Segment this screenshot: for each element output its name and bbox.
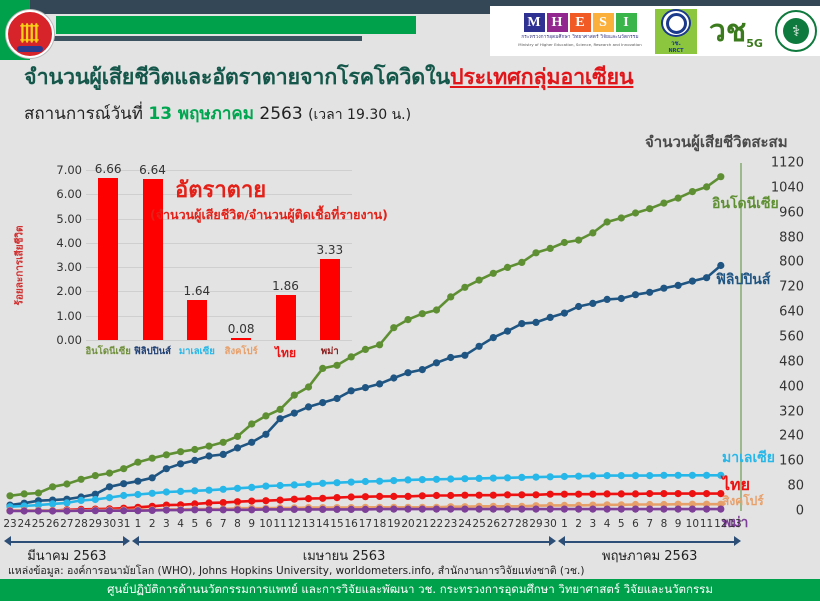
series-point xyxy=(476,506,483,513)
series-point xyxy=(447,503,454,510)
series-point xyxy=(134,506,141,513)
series-point xyxy=(49,483,56,490)
series-point xyxy=(376,380,383,387)
series-point xyxy=(689,188,696,195)
series-point xyxy=(404,369,411,376)
month-arrow-line xyxy=(562,541,737,543)
series-point xyxy=(589,491,596,498)
inset-bar-value: 1.86 xyxy=(272,279,299,293)
series-point xyxy=(461,475,468,482)
x-axis-tick: 13 xyxy=(302,518,315,530)
series-point xyxy=(575,237,582,244)
series-point xyxy=(461,284,468,291)
x-axis-tick: 11 xyxy=(273,518,286,530)
subtitle-date: 13 พฤษภาคม xyxy=(148,104,254,124)
series-point xyxy=(419,366,426,373)
x-axis-tick: 11 xyxy=(700,518,713,530)
series-point xyxy=(604,218,611,225)
inset-bar-value: 6.66 xyxy=(95,162,122,176)
series-point xyxy=(134,507,141,514)
right-axis-tick: 1120 xyxy=(771,156,804,171)
series-point xyxy=(63,507,70,514)
series-point xyxy=(561,502,568,509)
series-point xyxy=(177,506,184,513)
mhesi-thai-name: กระทรวงการอุดมศึกษา วิทยาศาสตร์ วิจัยและ… xyxy=(521,34,638,41)
series-point xyxy=(419,504,426,511)
series-point xyxy=(632,209,639,216)
x-axis-tick: 10 xyxy=(686,518,699,530)
series-point xyxy=(319,504,326,511)
inset-subtitle: (จำนวนผู้เสียชีวิต/จำนวนผู้ติดเชื้อที่รา… xyxy=(150,205,388,225)
series-point xyxy=(675,506,682,513)
series-point xyxy=(433,306,440,313)
series-point xyxy=(248,505,255,512)
x-axis-tick: 4 xyxy=(604,518,611,530)
series-point xyxy=(376,341,383,348)
series-point xyxy=(433,506,440,513)
month-band: เมษายน 2563 xyxy=(132,533,556,563)
series-point xyxy=(575,303,582,310)
series-point xyxy=(191,500,198,507)
series-point xyxy=(120,507,127,514)
x-axis-tick: 21 xyxy=(416,518,429,530)
series-point xyxy=(35,507,42,514)
series-point xyxy=(632,472,639,479)
series-point xyxy=(632,506,639,513)
series-point xyxy=(262,497,269,504)
x-axis-tick: 24 xyxy=(18,518,31,530)
series-point xyxy=(35,502,42,509)
inset-category-label: ฟิลิปปินส์ xyxy=(134,344,171,359)
series-point xyxy=(63,480,70,487)
series-point xyxy=(618,490,625,497)
series-point xyxy=(518,506,525,513)
inset-bar-value: 3.33 xyxy=(316,243,343,257)
x-axis-tick: 7 xyxy=(220,518,227,530)
series-point xyxy=(21,500,28,507)
series-line-สิงคโปร์ xyxy=(10,504,721,510)
series-point xyxy=(532,502,539,509)
series-point xyxy=(291,496,298,503)
inset-y-tick: 2.00 xyxy=(42,284,82,298)
series-point xyxy=(134,459,141,466)
series-point xyxy=(362,493,369,500)
series-point xyxy=(262,483,269,490)
series-point xyxy=(660,506,667,513)
series-point xyxy=(390,493,397,500)
month-arrow-line xyxy=(8,541,126,543)
x-axis-tick: 25 xyxy=(32,518,45,530)
moph-logo: ⚕ xyxy=(775,8,817,54)
series-point xyxy=(532,491,539,498)
inset-title: อัตราตาย xyxy=(175,172,266,207)
series-point xyxy=(419,492,426,499)
asean-rice-stalks-icon xyxy=(17,21,43,47)
series-point xyxy=(362,384,369,391)
series-point xyxy=(461,492,468,499)
asean-logo-ring xyxy=(17,46,43,52)
series-point xyxy=(248,439,255,446)
series-point xyxy=(262,431,269,438)
x-axis-tick: 29 xyxy=(529,518,542,530)
series-line-ไทย xyxy=(10,494,721,511)
series-point xyxy=(49,507,56,514)
series-point xyxy=(177,501,184,508)
x-axis-tick: 5 xyxy=(618,518,625,530)
series-point xyxy=(220,506,227,513)
series-point xyxy=(518,503,525,510)
series-point xyxy=(589,229,596,236)
series-point xyxy=(163,507,170,514)
x-axis-tick: 2 xyxy=(149,518,156,530)
inset-gridline xyxy=(86,316,352,317)
series-point xyxy=(78,507,85,514)
footer-org-text: ศูนย์ปฏิบัติการด้านนวัตกรรมการแพทย์ และก… xyxy=(107,581,713,599)
series-point xyxy=(504,264,511,271)
series-point xyxy=(21,507,28,514)
series-point xyxy=(547,491,554,498)
series-point xyxy=(35,507,42,514)
series-point xyxy=(476,475,483,482)
x-axis-tick: 3 xyxy=(589,518,596,530)
series-point xyxy=(92,496,99,503)
series-point xyxy=(262,506,269,513)
inset-y-tick: 6.00 xyxy=(42,187,82,201)
nrct-label-en: NRCT xyxy=(668,48,683,54)
series-point xyxy=(490,503,497,510)
series-point xyxy=(660,490,667,497)
right-axis-tick: 960 xyxy=(779,205,804,220)
x-axis-tick: 4 xyxy=(177,518,184,530)
series-point xyxy=(390,477,397,484)
x-axis-tick: 10 xyxy=(259,518,272,530)
series-point xyxy=(78,507,85,514)
series-point xyxy=(234,444,241,451)
page-title-highlight: ประเทศกลุ่มอาเซียน xyxy=(450,65,634,90)
series-point xyxy=(149,474,156,481)
inset-category-label: มาเลเซีย xyxy=(179,344,215,359)
series-point xyxy=(78,493,85,500)
inset-category-label: พม่า xyxy=(321,344,339,359)
x-axis-tick: 28 xyxy=(74,518,87,530)
series-point xyxy=(220,451,227,458)
series-point xyxy=(134,491,141,498)
series-point xyxy=(234,485,241,492)
series-point xyxy=(561,506,568,513)
series-point xyxy=(234,506,241,513)
x-axis-tick: 13 xyxy=(728,518,741,530)
series-point xyxy=(21,507,28,514)
series-point xyxy=(277,406,284,413)
series-point xyxy=(291,410,298,417)
series-point xyxy=(575,506,582,513)
series-point xyxy=(106,507,113,514)
x-axis-tick: 1 xyxy=(135,518,142,530)
inset-category-label: อินโดนีเซีย xyxy=(86,344,131,359)
series-point xyxy=(205,452,212,459)
series-point xyxy=(376,506,383,513)
series-point xyxy=(348,479,355,486)
series-point xyxy=(518,474,525,481)
series-point xyxy=(476,492,483,499)
mhesi-letter-h: H xyxy=(547,13,568,32)
x-axis-tick: 8 xyxy=(661,518,668,530)
series-point xyxy=(390,506,397,513)
series-point xyxy=(660,501,667,508)
series-point xyxy=(675,282,682,289)
series-point xyxy=(618,501,625,508)
series-point xyxy=(234,498,241,505)
series-point xyxy=(689,472,696,479)
series-point xyxy=(106,505,113,512)
series-point xyxy=(262,412,269,419)
header-slate-bar xyxy=(52,36,362,41)
series-point xyxy=(632,501,639,508)
series-point xyxy=(589,502,596,509)
series-point xyxy=(646,472,653,479)
series-point xyxy=(390,504,397,511)
series-point xyxy=(21,490,28,497)
series-point xyxy=(234,505,241,512)
nrct-logo: วช. NRCT xyxy=(655,9,697,54)
series-point xyxy=(447,506,454,513)
wch-glyph: วช xyxy=(709,17,746,47)
series-point xyxy=(532,249,539,256)
x-axis-tick: 16 xyxy=(344,518,357,530)
series-point xyxy=(106,470,113,477)
x-axis-tick: 12 xyxy=(288,518,301,530)
series-point xyxy=(532,474,539,481)
series-point xyxy=(106,494,113,501)
series-point xyxy=(660,472,667,479)
series-point xyxy=(277,482,284,489)
series-point xyxy=(177,507,184,514)
series-point xyxy=(92,507,99,514)
series-point xyxy=(419,310,426,317)
series-point xyxy=(518,320,525,327)
series-point xyxy=(447,475,454,482)
series-point xyxy=(305,495,312,502)
series-point xyxy=(6,507,13,514)
series-point xyxy=(291,506,298,513)
x-axis-tick: 26 xyxy=(46,518,59,530)
series-point xyxy=(21,507,28,514)
inset-bar-value: 0.08 xyxy=(228,322,255,336)
series-point xyxy=(333,506,340,513)
series-label-ฟิลิปปินส์: ฟิลิปปินส์ xyxy=(716,269,770,291)
series-point xyxy=(547,473,554,480)
series-point xyxy=(490,492,497,499)
series-point xyxy=(248,506,255,513)
series-point xyxy=(63,496,70,503)
series-point xyxy=(532,319,539,326)
right-axis-tick: 240 xyxy=(779,429,804,444)
series-point xyxy=(703,274,710,281)
series-point xyxy=(362,478,369,485)
subtitle-prefix: สถานการณ์วันที่ xyxy=(24,104,143,124)
series-point xyxy=(604,506,611,513)
series-point xyxy=(689,506,696,513)
series-point xyxy=(689,501,696,508)
x-axis-tick: 7 xyxy=(646,518,653,530)
series-point xyxy=(646,506,653,513)
x-axis-tick: 2 xyxy=(575,518,582,530)
series-point xyxy=(248,420,255,427)
series-point xyxy=(490,506,497,513)
series-line-พม่า xyxy=(10,509,721,511)
series-point xyxy=(305,481,312,488)
asean-logo-icon xyxy=(6,10,54,58)
series-point xyxy=(6,503,13,510)
inset-y-tick: 3.00 xyxy=(42,260,82,274)
series-point xyxy=(660,200,667,207)
x-axis-tick: 29 xyxy=(89,518,102,530)
series-point xyxy=(504,328,511,335)
x-axis-tick: 25 xyxy=(472,518,485,530)
series-point xyxy=(404,493,411,500)
series-point xyxy=(35,489,42,496)
series-point xyxy=(333,362,340,369)
series-point xyxy=(675,490,682,497)
series-point xyxy=(220,506,227,513)
series-point xyxy=(120,507,127,514)
series-point xyxy=(78,497,85,504)
moph-outer-ring: ⚕ xyxy=(775,10,817,52)
series-point xyxy=(134,504,141,511)
series-point xyxy=(561,473,568,480)
series-point xyxy=(205,487,212,494)
x-axis-tick: 9 xyxy=(675,518,682,530)
series-point xyxy=(149,455,156,462)
right-axis-tick: 0 xyxy=(796,504,804,519)
series-point xyxy=(120,480,127,487)
inset-y-tick: 7.00 xyxy=(42,163,82,177)
footer-bar: ศูนย์ปฏิบัติการด้านนวัตกรรมการแพทย์ และก… xyxy=(0,579,820,601)
series-point xyxy=(348,506,355,513)
series-point xyxy=(248,498,255,505)
series-point xyxy=(291,481,298,488)
series-point xyxy=(561,310,568,317)
series-point xyxy=(348,493,355,500)
series-point xyxy=(220,439,227,446)
series-point xyxy=(177,488,184,495)
x-axis-tick: 12 xyxy=(714,518,727,530)
series-point xyxy=(518,259,525,266)
month-arrow-line xyxy=(136,541,552,543)
series-point xyxy=(476,503,483,510)
series-point xyxy=(433,359,440,366)
series-point xyxy=(419,476,426,483)
series-point xyxy=(277,506,284,513)
series-point xyxy=(561,491,568,498)
series-point xyxy=(92,507,99,514)
series-point xyxy=(433,504,440,511)
series-point xyxy=(333,479,340,486)
subtitle-year: 2563 xyxy=(259,104,302,124)
series-point xyxy=(504,474,511,481)
x-axis-tick: 26 xyxy=(487,518,500,530)
series-point xyxy=(518,491,525,498)
series-point xyxy=(319,495,326,502)
series-point xyxy=(191,506,198,513)
series-point xyxy=(618,506,625,513)
series-point xyxy=(191,457,198,464)
series-point xyxy=(305,403,312,410)
series-point xyxy=(92,491,99,498)
series-point xyxy=(333,504,340,511)
series-point xyxy=(547,506,554,513)
series-point xyxy=(433,476,440,483)
series-point xyxy=(532,506,539,513)
x-axis-tick: 15 xyxy=(330,518,343,530)
x-axis-month-bands: มีนาคม 2563เมษายน 2563พฤษภาคม 2563 xyxy=(0,533,820,563)
series-point xyxy=(504,491,511,498)
series-point xyxy=(106,483,113,490)
inset-bar xyxy=(320,259,340,340)
series-point xyxy=(348,387,355,394)
mhesi-letter-s: S xyxy=(593,13,614,32)
series-point xyxy=(547,502,554,509)
inset-bar-value: 6.64 xyxy=(139,163,166,177)
series-point xyxy=(490,334,497,341)
x-axis-tick: 6 xyxy=(632,518,639,530)
series-point xyxy=(149,503,156,510)
series-point xyxy=(660,285,667,292)
series-point xyxy=(305,504,312,511)
right-axis-tick: 400 xyxy=(779,379,804,394)
series-point xyxy=(689,278,696,285)
series-point xyxy=(575,473,582,480)
month-label: พฤษภาคม 2563 xyxy=(558,545,741,566)
inset-gridline xyxy=(86,340,352,341)
series-point xyxy=(205,443,212,450)
series-point xyxy=(248,484,255,491)
x-axis-tick: 30 xyxy=(103,518,116,530)
x-axis-tick: 22 xyxy=(430,518,443,530)
series-point xyxy=(205,499,212,506)
series-point xyxy=(120,465,127,472)
x-axis-tick: 30 xyxy=(544,518,557,530)
x-axis-tick: 8 xyxy=(234,518,241,530)
series-point xyxy=(376,478,383,485)
series-point xyxy=(604,501,611,508)
series-point xyxy=(149,506,156,513)
page-title: จำนวนผู้เสียชีวิตและอัตราตายจากโรคโควิดใ… xyxy=(24,60,633,94)
series-point xyxy=(419,506,426,513)
series-point xyxy=(63,506,70,513)
month-band: มีนาคม 2563 xyxy=(4,533,130,563)
series-point xyxy=(319,399,326,406)
x-axis-tick: 24 xyxy=(458,518,471,530)
mhesi-letters: M H E S I xyxy=(524,13,637,32)
series-point xyxy=(461,503,468,510)
right-axis-tick: 800 xyxy=(779,255,804,270)
x-axis-tick: 3 xyxy=(163,518,170,530)
series-point xyxy=(461,352,468,359)
series-point xyxy=(149,507,156,514)
series-point xyxy=(163,502,170,509)
inset-gridline xyxy=(86,291,352,292)
series-point xyxy=(632,291,639,298)
series-label-มาเลเซีย: มาเลเซีย xyxy=(722,447,775,469)
series-point xyxy=(319,480,326,487)
series-point xyxy=(461,506,468,513)
right-axis-tick: 560 xyxy=(779,330,804,345)
series-point xyxy=(547,245,554,252)
series-point xyxy=(604,296,611,303)
x-axis-tick: 27 xyxy=(501,518,514,530)
series-point xyxy=(305,383,312,390)
